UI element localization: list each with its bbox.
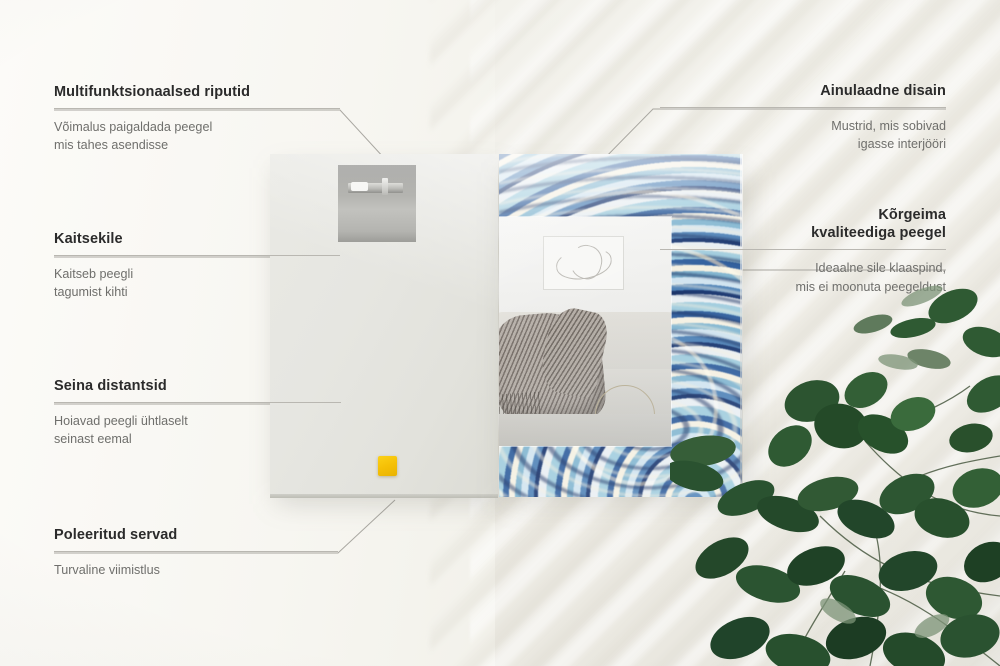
- callout-title: Kaitsekile: [54, 230, 340, 248]
- callout-multifunctional-hangers: Multifunktsionaalsed riputid Võimalus pa…: [54, 83, 340, 155]
- callout-rule: [660, 249, 946, 250]
- callout-body: Mustrid, mis sobivad igasse interjööri: [660, 117, 946, 154]
- callout-title: Multifunktsionaalsed riputid: [54, 83, 340, 101]
- callout-body: Turvaline viimistlus: [54, 561, 338, 579]
- callout-body: Ideaalne sile klaaspind, mis ei moonuta …: [660, 259, 946, 296]
- callout-body: Kaitseb peegli tagumist kihti: [54, 265, 340, 302]
- callout-rule: [660, 107, 946, 108]
- callout-unique-design: Ainulaadne disain Mustrid, mis sobivad i…: [660, 82, 946, 154]
- callout-title: Kõrgeima kvaliteediga peegel: [660, 206, 946, 242]
- callout-protective-film: Kaitsekile Kaitseb peegli tagumist kihti: [54, 230, 340, 302]
- callout-rule: [54, 402, 341, 403]
- callout-title: Poleeritud servad: [54, 526, 338, 544]
- wall-spacer: [378, 456, 397, 476]
- callout-body: Hoiavad peegli ühtlaselt seinast eemal: [54, 412, 341, 449]
- room-reflection: [499, 217, 671, 446]
- multifunctional-hanger: [338, 165, 416, 242]
- reflection-glass-sheen: [499, 217, 671, 446]
- callout-polished-edges: Poleeritud servad Turvaline viimistlus: [54, 526, 338, 579]
- callout-wall-spacers: Seina distantsid Hoiavad peegli ühtlasel…: [54, 377, 341, 449]
- callout-title: Ainulaadne disain: [660, 82, 946, 100]
- callout-body: Võimalus paigaldada peegel mis tahes ase…: [54, 118, 340, 155]
- callout-rule: [54, 551, 338, 552]
- callout-rule: [54, 108, 340, 109]
- product-infographic: Multifunktsionaalsed riputid Võimalus pa…: [0, 0, 1000, 666]
- callout-title: Seina distantsid: [54, 377, 341, 395]
- hanger-gloss: [338, 165, 416, 196]
- polished-edge: [270, 494, 498, 498]
- callout-rule: [54, 255, 340, 256]
- callout-premium-mirror: Kõrgeima kvaliteediga peegel Ideaalne si…: [660, 206, 946, 296]
